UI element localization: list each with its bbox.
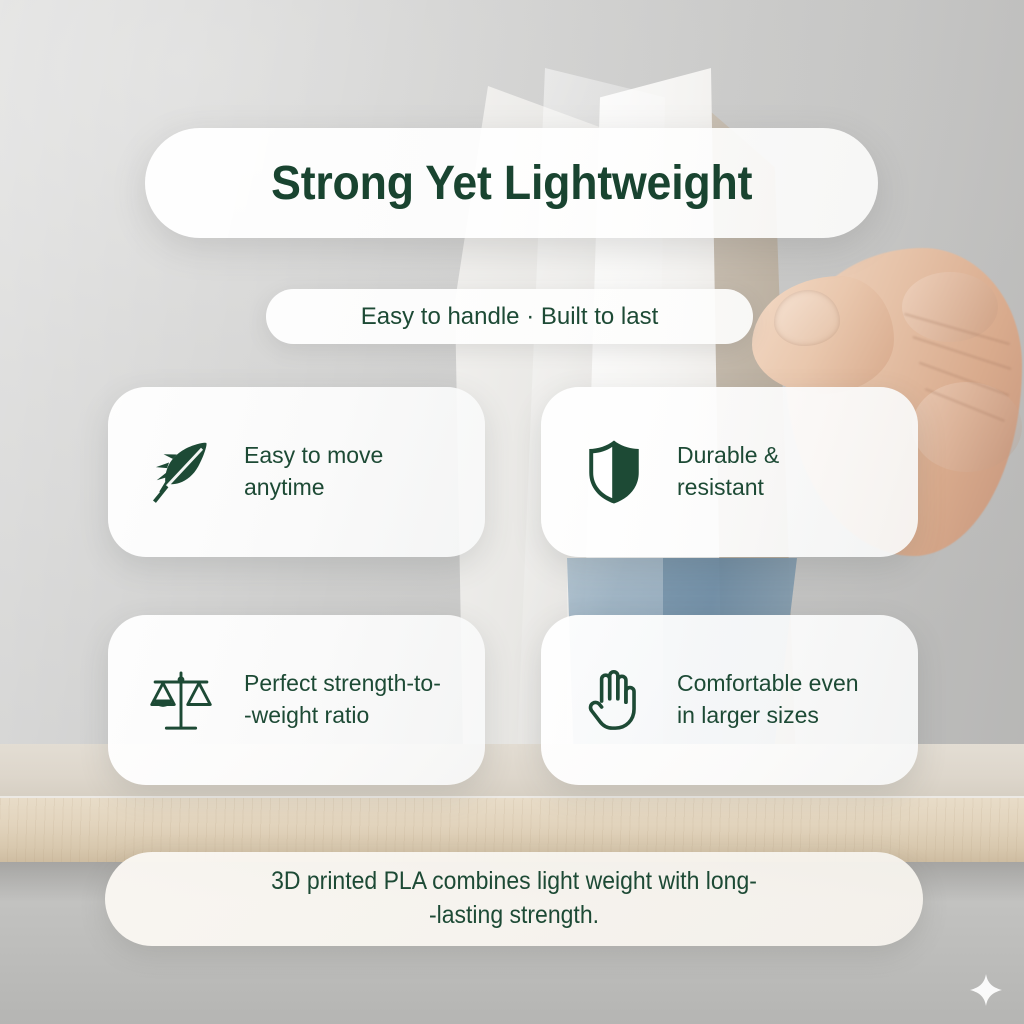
- feature-label-line-1: Comfortable even: [677, 670, 859, 696]
- feature-card-label: Comfortable even in larger sizes: [677, 668, 859, 731]
- balance-scale-icon: [142, 661, 220, 739]
- feature-label-line-2: anytime: [244, 474, 325, 500]
- feature-card-durable[interactable]: Durable & resistant: [541, 387, 918, 557]
- footer-line-2: -lasting strength.: [429, 901, 599, 929]
- title-pill: Strong Yet Lightweight: [145, 128, 878, 238]
- footer-banner: 3D printed PLA combines light weight wit…: [105, 852, 923, 946]
- feature-label-line-1: Easy to move: [244, 442, 383, 468]
- infographic-overlay: Strong Yet Lightweight Easy to handle · …: [0, 0, 1024, 1024]
- feature-card-easy-to-move[interactable]: Easy to move anytime: [108, 387, 485, 557]
- feature-card-label: Durable & resistant: [677, 440, 779, 503]
- page-subtitle: Easy to handle · Built to last: [361, 303, 659, 331]
- feature-label-line-2: -weight ratio: [244, 702, 369, 728]
- open-hand-icon: [575, 661, 653, 739]
- page-title: Strong Yet Lightweight: [271, 156, 752, 211]
- feature-card-strength-ratio[interactable]: Perfect strength-to- -weight ratio: [108, 615, 485, 785]
- sparkle-icon: [968, 972, 1004, 1008]
- footer-text: 3D printed PLA combines light weight wit…: [164, 865, 863, 933]
- footer-line-1: 3D printed PLA combines light weight wit…: [271, 867, 757, 895]
- feature-label-line-1: Durable &: [677, 442, 779, 468]
- feature-card-label: Easy to move anytime: [244, 440, 383, 503]
- shield-icon: [575, 433, 653, 511]
- feature-card-comfortable[interactable]: Comfortable even in larger sizes: [541, 615, 918, 785]
- feature-card-label: Perfect strength-to- -weight ratio: [244, 668, 441, 731]
- feature-label-line-2: resistant: [677, 474, 764, 500]
- feature-label-line-1: Perfect strength-to-: [244, 670, 441, 696]
- subtitle-pill: Easy to handle · Built to last: [266, 289, 753, 344]
- feature-card-grid: Easy to move anytime Durable & resistant: [108, 387, 918, 785]
- feather-icon: [142, 433, 220, 511]
- feature-label-line-2: in larger sizes: [677, 702, 819, 728]
